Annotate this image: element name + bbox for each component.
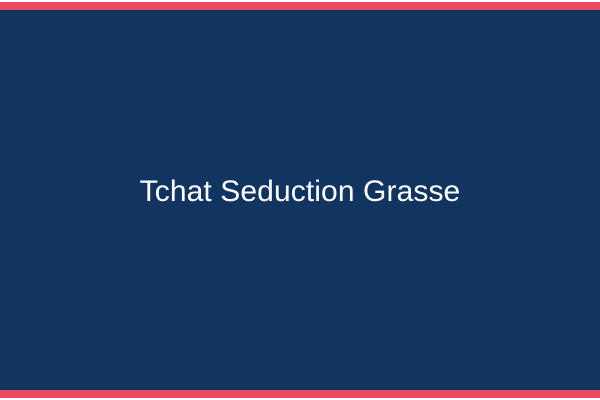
hero-content: Tchat Seduction Grasse (0, 174, 600, 210)
accent-bar-top (0, 2, 600, 10)
accent-bar-bottom (0, 390, 600, 398)
page-title: Tchat Seduction Grasse (0, 174, 600, 210)
hero-section: Tchat Seduction Grasse (0, 10, 600, 390)
banner-card: Tchat Seduction Grasse (0, 0, 600, 400)
